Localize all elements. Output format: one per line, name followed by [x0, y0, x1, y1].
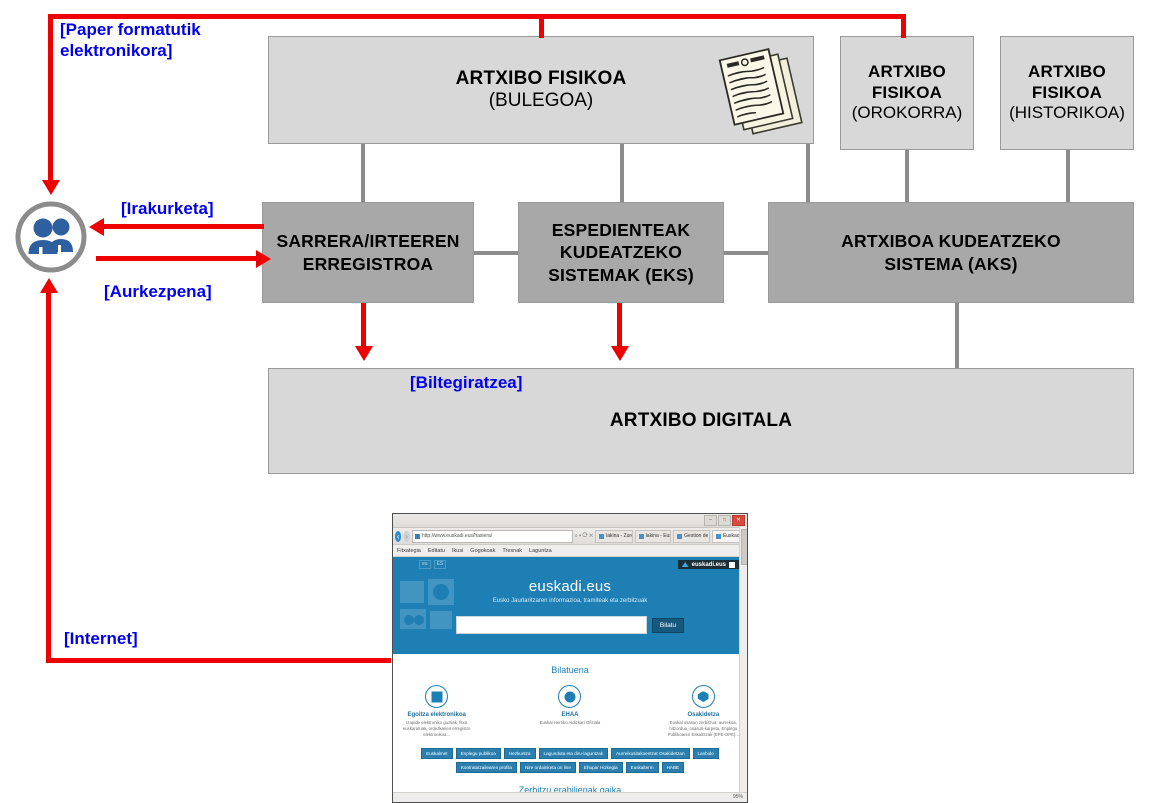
hero-watermark-graphic: [396, 575, 488, 649]
arrow-register-to-digital: [361, 303, 366, 348]
node-title: ARTXIBOFISIKOA: [1028, 62, 1106, 103]
node-aks[interactable]: ARTXIBOA KUDEATZEKOSISTEMA (AKS): [768, 202, 1134, 303]
site-brand-logo[interactable]: euskadi.eus: [678, 560, 739, 569]
card-ehaa[interactable]: EHAA Euskal Herriko Aldizkari Ofiziala: [526, 685, 613, 739]
arrow-reading-line: [104, 224, 264, 229]
arrowhead-left-reading: [89, 218, 104, 236]
tag-lanbide[interactable]: Lanbide: [693, 748, 719, 759]
euskadi-mark-icon: [682, 562, 689, 567]
arrowhead-up-internet: [40, 278, 58, 293]
browser-viewport: eu ES euskadi.eus euskadi.eus Eusko Jaur…: [393, 557, 747, 803]
node-entry-exit-register[interactable]: SARRERA/IRTEERENERREGISTROA: [262, 202, 474, 303]
card-title: Osakidetza: [660, 712, 747, 718]
browser-statusbar: 95%: [393, 792, 747, 802]
actor-citizen-icon[interactable]: [14, 200, 88, 274]
label-submission: [Aurkezpena]: [104, 281, 212, 302]
card-title: Egoitza elektronikoa: [393, 712, 480, 718]
node-archive-physical-general[interactable]: ARTXIBOFISIKOA (OROKORRA): [840, 36, 974, 150]
tag-osakidetzan[interactable]: Aurreikusitakoentzat Osakidetzan: [611, 748, 689, 759]
forward-arrow-icon[interactable]: ›: [403, 531, 409, 542]
site-hero: eu ES euskadi.eus euskadi.eus Eusko Jaur…: [393, 557, 747, 654]
arrowhead-down-to-actor: [42, 180, 60, 195]
arrow-submission-line: [96, 256, 256, 261]
address-bar[interactable]: http://www.euskadi.eus/hasiera/: [412, 530, 573, 543]
tag-enplegu-publikoa[interactable]: Enplegu publikoa: [456, 748, 501, 759]
connector-office-register: [361, 144, 365, 202]
menu-item-edit[interactable]: Editatu: [428, 548, 445, 554]
tab-favicon: [716, 534, 721, 539]
node-title: SARRERA/IRTEERENERREGISTROA: [276, 230, 459, 275]
tag-laguntzak[interactable]: Lagunduta eta diru-laguntzak: [539, 748, 609, 759]
card-description: Izapide elektroniko guztiak, fitxa euska…: [393, 720, 480, 739]
connector-aks-digital: [955, 303, 959, 368]
arrowhead-right-submission: [256, 250, 271, 268]
section-title-text: Bilatuena: [551, 665, 589, 675]
node-title: ARTXIBOFISIKOA: [868, 62, 946, 103]
menu-item-tools[interactable]: Tresnak: [502, 548, 522, 554]
browser-tab[interactable]: Gestion de solicit...: [673, 530, 710, 543]
section-title-bilatuena: Bilatuena: [393, 665, 747, 675]
tab-label: lakina - Euspotea -: [646, 531, 671, 542]
connector-eks-aks: [724, 251, 768, 255]
label-paper-to-electronic: [Paper formatutikelektronikora]: [60, 19, 201, 62]
connector-office-aks: [806, 144, 810, 202]
tag-hezkuntza[interactable]: Hezkuntza: [504, 748, 536, 759]
browser-window-screenshot[interactable]: – □ ✕ ‹ › http://www.euskadi.eus/hasiera…: [392, 513, 748, 803]
card-description: Euskal Herriko Aldizkari Ofiziala: [526, 720, 613, 726]
arrow-eks-to-digital: [617, 303, 622, 348]
tag-euskalterm[interactable]: Euskalterm: [626, 762, 659, 773]
tag-kontratatzailearen-profila[interactable]: Kontratatzailearen profila: [456, 762, 517, 773]
back-arrow-icon[interactable]: ‹: [395, 531, 401, 542]
arrow-paper-drop-general: [901, 14, 906, 38]
window-controls[interactable]: – □ ✕: [704, 515, 745, 526]
tag-euskalmet[interactable]: Euskalmet: [421, 748, 452, 759]
featured-cards: Egoitza elektronikoa Izapide elektroniko…: [393, 685, 747, 739]
node-title: ARTXIBOA KUDEATZEKOSISTEMA (AKS): [841, 230, 1061, 275]
health-icon: [692, 685, 715, 708]
card-title: EHAA: [526, 712, 613, 718]
tag-hiztegia[interactable]: Ehupar Hizkegia: [579, 762, 623, 773]
node-subtitle: (BULEGOA): [489, 90, 594, 112]
node-title: ESPEDIENTEAKKUDEATZEKOSISTEMAK (EKS): [548, 219, 694, 286]
connector-office-eks: [620, 144, 624, 202]
arrowhead-down-eks-digital: [611, 346, 629, 361]
arrow-internet-vertical: [46, 292, 51, 662]
vertical-scrollbar[interactable]: [739, 527, 747, 793]
quick-tags-row-1: Euskalmet Enplegu publikoa Hezkuntza Lag…: [393, 748, 747, 759]
card-osakidetza[interactable]: Osakidetza Euskal osasun zerbitzua: aurr…: [660, 685, 747, 739]
menu-item-help[interactable]: Laguntza: [529, 548, 552, 554]
node-eks[interactable]: ESPEDIENTEAKKUDEATZEKOSISTEMAK (EKS): [518, 202, 724, 303]
globe-icon: [558, 685, 581, 708]
certificate-icon: [425, 685, 448, 708]
quick-tags-row-2: Kontratatzailearen profila Nire ordainke…: [393, 762, 747, 773]
tag-habe[interactable]: HABE: [662, 762, 685, 773]
zoom-level[interactable]: 95%: [733, 794, 743, 800]
maximize-button[interactable]: □: [718, 515, 731, 526]
label-internet: [Internet]: [64, 628, 138, 649]
minimize-button[interactable]: –: [704, 515, 717, 526]
arrowhead-down-register-digital: [355, 346, 373, 361]
connector-general-aks: [905, 150, 909, 202]
tab-favicon: [639, 534, 644, 539]
arrow-internet-horizontal: [46, 658, 391, 663]
lang-badge-es[interactable]: ES: [434, 560, 447, 569]
browser-tab[interactable]: lakina - Zure aplik...: [595, 530, 633, 543]
close-button[interactable]: ✕: [732, 515, 745, 526]
node-digital-archive[interactable]: ARTXIBO DIGITALA: [268, 368, 1134, 474]
address-bar-url: http://www.euskadi.eus/hasiera/: [422, 533, 492, 539]
page-favicon: [415, 534, 420, 539]
card-description: Euskal osasun zerbitzua: aurrekoa, hitzo…: [660, 720, 747, 739]
menu-item-view[interactable]: Ikusi: [452, 548, 463, 554]
tab-label: lakina - Zure aplik...: [606, 531, 633, 542]
browser-tab[interactable]: lakina - Euspotea -: [635, 530, 671, 543]
card-egoitza-elektronikoa[interactable]: Egoitza elektronikoa Izapide elektroniko…: [393, 685, 480, 739]
brand-text: euskadi.eus: [692, 562, 726, 568]
lang-badge-eu[interactable]: eu: [419, 560, 431, 569]
menu-item-file[interactable]: Fitxategia: [397, 548, 421, 554]
node-subtitle: (HISTORIKOA): [1009, 103, 1125, 123]
node-title: ARTXIBO DIGITALA: [610, 410, 792, 432]
connector-historic-aks: [1066, 150, 1070, 202]
connector-register-eks: [474, 251, 518, 255]
tab-label: Gestion de solicit...: [684, 531, 710, 542]
node-subtitle: (OROKORRA): [852, 103, 963, 123]
menu-item-favorites[interactable]: Gogokoak: [470, 548, 495, 554]
diagram-canvas: ARTXIBO FISIKOA (BULEGOA): [0, 0, 1154, 803]
tab-favicon: [677, 534, 682, 539]
scrollbar-thumb[interactable]: [741, 529, 748, 565]
arrow-paper-to-electronic-vertical: [48, 14, 53, 181]
tag-ordainketa-on-line[interactable]: Nire ordainketa on line: [520, 762, 576, 773]
arrow-paper-drop-office: [539, 14, 544, 38]
document-stack-icon: [718, 46, 812, 138]
tab-favicon: [599, 534, 604, 539]
browser-titlebar: – □ ✕: [393, 514, 747, 528]
label-storage: [Biltegiratzea]: [410, 372, 522, 393]
label-reading: [Irakurketa]: [121, 198, 214, 219]
browser-menubar[interactable]: Fitxategia Editatu Ikusi Gogokoak Tresna…: [393, 545, 747, 557]
node-archive-physical-historic[interactable]: ARTXIBOFISIKOA (HISTORIKOA): [1000, 36, 1134, 150]
node-title: ARTXIBO FISIKOA: [456, 68, 627, 90]
browser-navbar: ‹ › http://www.euskadi.eus/hasiera/ ⌕ ▾ …: [393, 528, 747, 545]
search-button[interactable]: Bilatu: [652, 618, 684, 633]
hamburger-menu-icon[interactable]: [729, 562, 735, 568]
address-bar-tools[interactable]: ⌕ ▾ ⟳ ✕: [575, 533, 593, 539]
